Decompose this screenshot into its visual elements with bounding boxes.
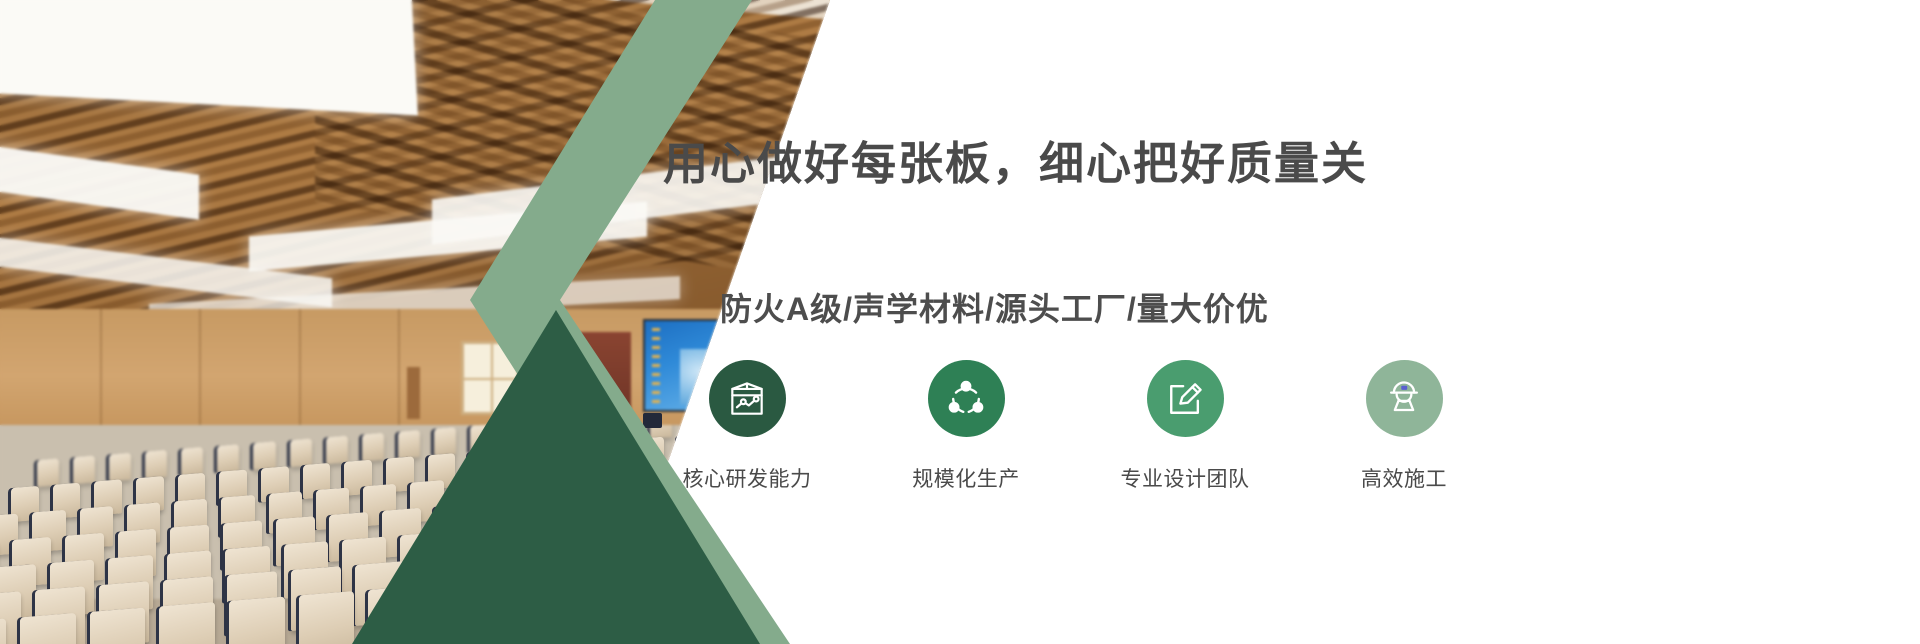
seat	[159, 602, 215, 644]
podium-chair	[556, 413, 574, 427]
podium-chair	[585, 413, 603, 427]
podium-chair	[643, 413, 661, 427]
feature-list: 核心研发能力 规模化生产	[673, 360, 1478, 493]
seat	[90, 608, 146, 644]
feature-label: 高效施工	[1361, 463, 1447, 493]
feature-icon-circle	[709, 360, 786, 437]
feature-item-efficient-construction[interactable]: 高效施工	[1330, 360, 1478, 493]
pencil-edit-icon	[1163, 377, 1207, 421]
feature-label: 核心研发能力	[683, 463, 812, 493]
subheadline: 防火A级/声学材料/源头工厂/量大价优	[720, 284, 1269, 330]
promo-banner: 用心做好每张板，细心把好质量关 防火A级/声学材料/源头工厂/量大价优	[0, 0, 1920, 644]
seat	[507, 575, 563, 644]
seat	[299, 591, 355, 644]
feature-icon-circle	[1366, 360, 1443, 437]
feature-item-scale-production[interactable]: 规模化生产	[892, 360, 1040, 493]
feature-item-core-rd[interactable]: 核心研发能力	[673, 360, 821, 493]
podium-chair	[614, 413, 632, 427]
content-area: 用心做好每张板，细心把好质量关 防火A级/声学材料/源头工厂/量大价优	[663, 0, 1920, 644]
research-box-icon	[725, 377, 769, 421]
seat	[577, 569, 633, 641]
feature-label: 专业设计团队	[1121, 463, 1250, 493]
seat	[438, 580, 494, 644]
seat	[368, 586, 424, 644]
page-title: 用心做好每张板，细心把好质量关	[663, 127, 1920, 192]
seat	[229, 597, 285, 644]
feature-item-design-team[interactable]: 专业设计团队	[1111, 360, 1259, 493]
hard-hat-worker-icon	[1382, 377, 1426, 421]
feature-icon-circle	[1147, 360, 1224, 437]
feature-label: 规模化生产	[912, 463, 1020, 493]
feature-icon-circle	[928, 360, 1005, 437]
seat	[0, 619, 6, 644]
seat	[20, 613, 76, 644]
network-nodes-icon	[944, 377, 988, 421]
podium-chair	[527, 413, 545, 427]
